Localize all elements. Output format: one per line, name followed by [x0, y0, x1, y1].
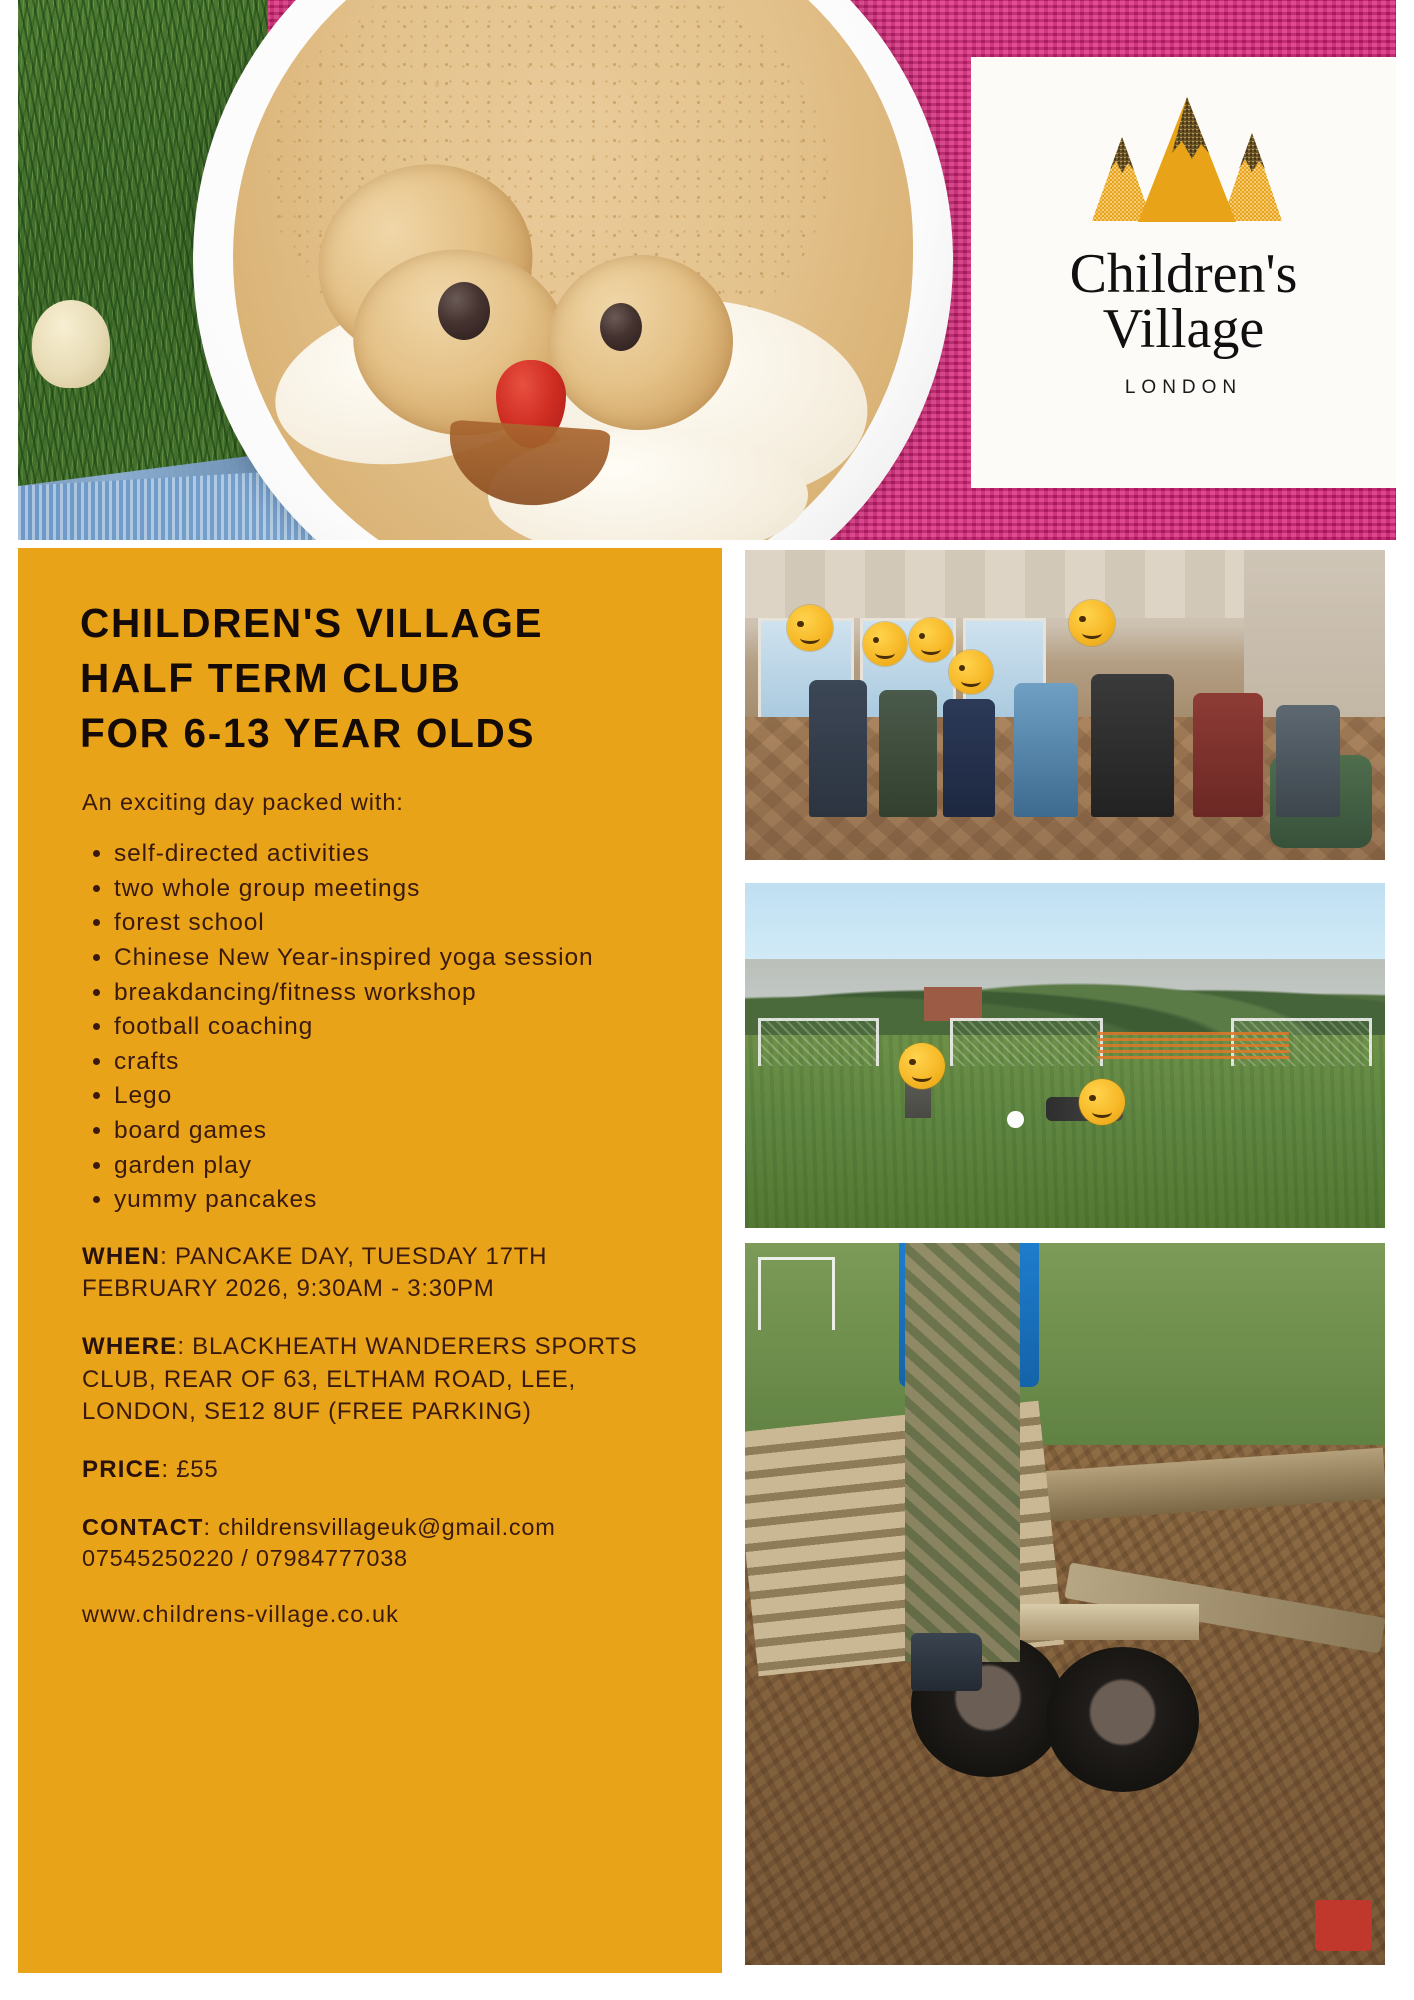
- list-item: breakdancing/fitness workshop: [114, 977, 678, 1009]
- smiley-face-overlay-icon: [1069, 600, 1115, 646]
- red-object: [1315, 1900, 1373, 1951]
- headline-line-2: HALF TERM CLUB: [80, 651, 678, 706]
- photo-breakdancing-indoor-hall: [745, 550, 1385, 860]
- house-roof: [924, 987, 982, 1022]
- list-item: board games: [114, 1115, 678, 1147]
- where-block: WHERE: BLACKHEATH WANDERERS SPORTS CLUB,…: [82, 1331, 678, 1429]
- blueberry-eye: [600, 303, 642, 351]
- logo-wordmark-line1: Children's: [1070, 247, 1298, 302]
- price-block: PRICE: £55: [82, 1454, 678, 1487]
- camo-trousers: [905, 1243, 1020, 1662]
- contact-phones: 07545250220 / 07984777038: [82, 1545, 408, 1571]
- activities-list: self-directed activities two whole group…: [62, 838, 678, 1216]
- website-link[interactable]: www.childrens-village.co.uk: [82, 1601, 678, 1628]
- list-item: crafts: [114, 1046, 678, 1078]
- list-item: Lego: [114, 1080, 678, 1112]
- person-figure: [1193, 693, 1263, 817]
- person-figure: [1014, 683, 1078, 816]
- blueberry-eye: [438, 282, 490, 340]
- price-label: PRICE: [82, 1456, 161, 1483]
- smiley-face-overlay-icon: [1079, 1079, 1125, 1125]
- list-item: self-directed activities: [114, 838, 678, 870]
- football-goal: [758, 1257, 835, 1329]
- list-item: forest school: [114, 907, 678, 939]
- person-figure: [809, 680, 867, 816]
- contact-block: CONTACT: childrensvillageuk@gmail.com075…: [82, 1512, 678, 1576]
- list-item: football coaching: [114, 1011, 678, 1043]
- orange-netting: [1097, 1031, 1289, 1059]
- poster-root: Children's Village LONDON CHILDREN'S VIL…: [0, 0, 1414, 2000]
- smiley-face-overlay-icon: [949, 650, 993, 694]
- tyre: [1046, 1647, 1200, 1791]
- price-value: : £55: [161, 1456, 218, 1483]
- list-item: Chinese New Year-inspired yoga session: [114, 942, 678, 974]
- logo-wordmark: Children's Village: [1070, 247, 1298, 357]
- smiley-face-overlay-icon: [863, 622, 907, 666]
- football-goal: [950, 1018, 1104, 1066]
- headline-line-1: CHILDREN'S VILLAGE: [80, 596, 678, 651]
- person-figure: [879, 690, 937, 817]
- contact-label: CONTACT: [82, 1514, 204, 1540]
- page-title: CHILDREN'S VILLAGE HALF TERM CLUB FOR 6-…: [80, 596, 678, 761]
- where-label: WHERE: [82, 1333, 177, 1360]
- smiley-face-overlay-icon: [909, 618, 953, 662]
- list-item: two whole group meetings: [114, 873, 678, 905]
- person-figure: [943, 699, 994, 817]
- logo-city: LONDON: [1125, 377, 1242, 399]
- banana-slice: [32, 300, 110, 388]
- person-figure: [1276, 705, 1340, 817]
- photo-football-pitch: [745, 883, 1385, 1228]
- football-goal: [758, 1018, 880, 1066]
- logo-card: Children's Village LONDON: [971, 57, 1396, 488]
- info-panel: CHILDREN'S VILLAGE HALF TERM CLUB FOR 6-…: [18, 548, 722, 1973]
- lead-text: An exciting day packed with:: [82, 789, 678, 816]
- smiley-face-overlay-icon: [787, 605, 833, 651]
- photo-forest-school-tyres: [745, 1243, 1385, 1965]
- three-mountains-icon: [1054, 89, 1314, 229]
- list-item: garden play: [114, 1150, 678, 1182]
- smiley-face-overlay-icon: [899, 1043, 945, 1089]
- football: [1007, 1111, 1024, 1128]
- boot: [911, 1633, 981, 1691]
- when-block: WHEN: PANCAKE DAY, TUESDAY 17TH FEBRUARY…: [82, 1241, 678, 1306]
- hall-wall: [1244, 550, 1385, 730]
- logo-wordmark-line2: Village: [1070, 302, 1298, 357]
- list-item: yummy pancakes: [114, 1184, 678, 1216]
- contact-email[interactable]: : childrensvillageuk@gmail.com: [204, 1514, 556, 1540]
- person-figure: [1091, 674, 1174, 817]
- when-label: WHEN: [82, 1243, 160, 1270]
- headline-line-3: FOR 6-13 YEAR OLDS: [80, 706, 678, 761]
